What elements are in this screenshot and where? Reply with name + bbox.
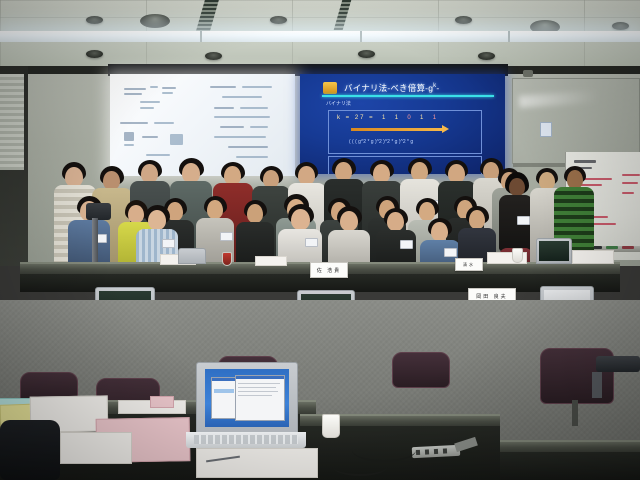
pink-tab xyxy=(150,396,174,408)
device-stand xyxy=(592,372,602,398)
slide-subtitle: バイナリ法 xyxy=(326,101,351,108)
paper-cup xyxy=(512,248,523,263)
paper-front-center xyxy=(196,448,318,478)
slide-equation-box: k = 27 = 1 1 0 1 1 ( ( ( g^2 * g )^2 )^2… xyxy=(328,110,482,154)
laptop-front-center-screen[interactable] xyxy=(205,369,289,427)
marker-green xyxy=(606,246,618,249)
ceiling-downlight xyxy=(455,16,472,24)
slide-logo-icon xyxy=(323,82,337,94)
ceiling-downlight xyxy=(86,16,103,24)
window-blinds xyxy=(0,74,24,170)
projector-or-device xyxy=(596,356,640,372)
wall-note-card xyxy=(540,122,552,137)
chair-right-leg xyxy=(572,400,578,426)
chair-foreground-left[interactable] xyxy=(0,420,60,480)
ceiling-downlight xyxy=(612,22,629,30)
ceiling-speaker xyxy=(140,14,170,28)
slide-title-rule xyxy=(322,95,494,97)
name-placard-center: 佐 浩貴 xyxy=(310,262,348,278)
ceiling-downlight xyxy=(358,50,375,58)
paper-stack xyxy=(255,256,287,266)
ceiling-downlight xyxy=(270,16,287,24)
laptop-front-center-keyboard[interactable] xyxy=(186,432,306,448)
document-camera-head xyxy=(86,203,111,220)
paper-cup-front xyxy=(322,414,340,438)
slide-direction-arrow-icon xyxy=(351,128,443,131)
laptop-front-center-lid[interactable] xyxy=(196,362,298,436)
laptop-back-right-lid xyxy=(536,238,572,264)
slide-title: バイナリ法-べき倍算-gk- xyxy=(344,80,499,94)
photo-scene: バイナリ法-べき倍算-gk- バイナリ法 k = 27 = 1 1 0 1 1 … xyxy=(0,0,640,480)
ceiling-downlight xyxy=(478,52,495,60)
power-cable xyxy=(332,456,388,476)
laptop-back-left-lid xyxy=(178,248,206,264)
white-paper-front-2 xyxy=(60,432,132,464)
wall-camera-icon xyxy=(523,70,533,77)
name-placard-right-back: 清水 xyxy=(455,258,483,271)
ceiling-light-strip xyxy=(0,31,640,42)
slide-equation: k = 27 = 1 1 0 1 1 xyxy=(337,115,438,121)
desk-row-front-right-front xyxy=(500,452,640,480)
marker-red xyxy=(622,246,634,249)
window-dialog[interactable] xyxy=(235,375,285,421)
paper-stack xyxy=(572,250,614,264)
ceiling-downlight xyxy=(86,50,103,58)
ceiling-downlight xyxy=(205,52,222,60)
chair-center-right[interactable] xyxy=(392,352,450,388)
red-cup xyxy=(222,252,232,266)
slide-expansion: ( ( ( g^2 * g )^2 )^2 * g )^2 * g xyxy=(349,139,413,145)
